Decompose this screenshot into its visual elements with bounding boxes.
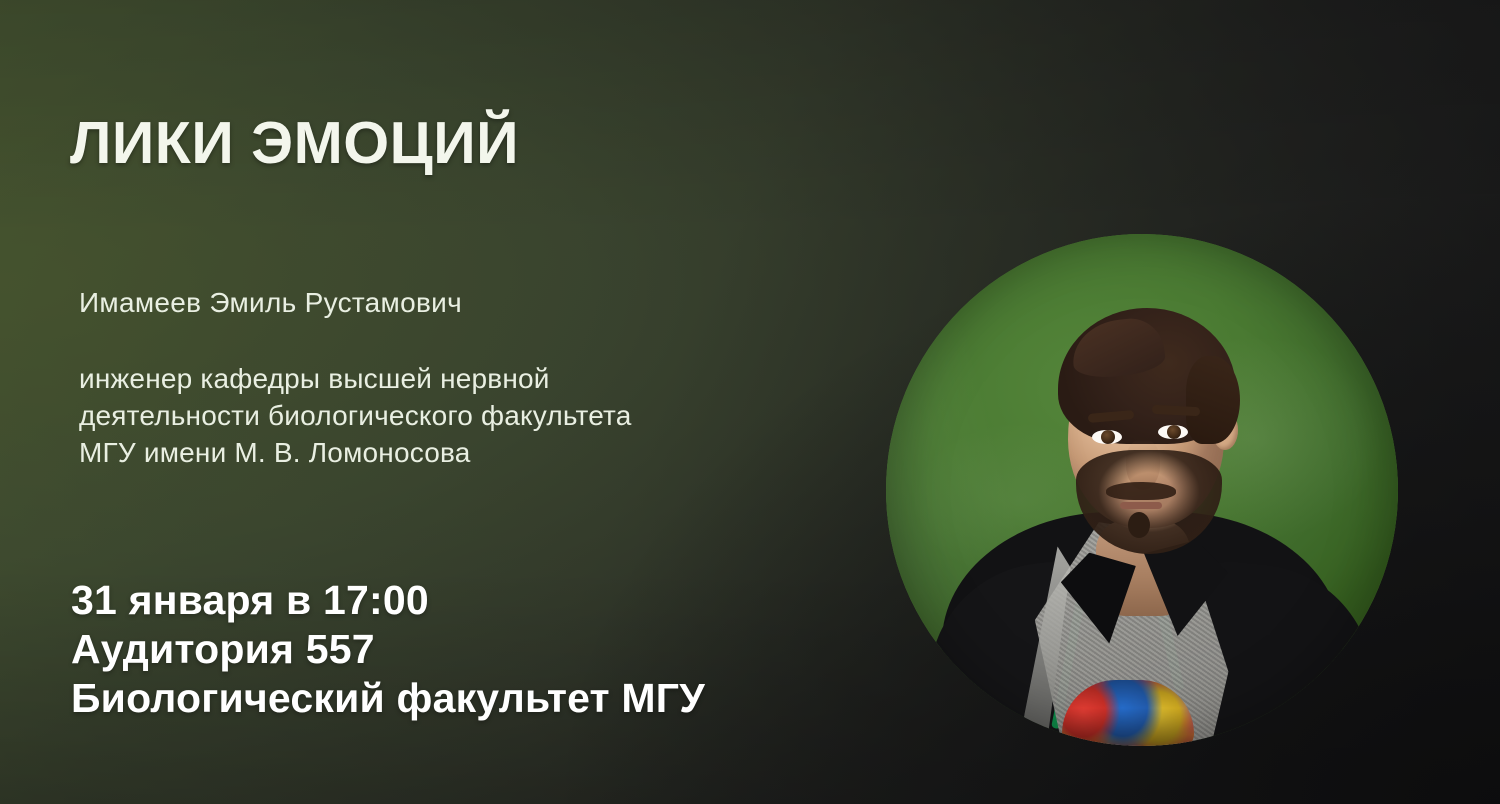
speaker-name: Имамеев Эмиль Рустамович xyxy=(79,286,462,320)
speaker-hair-side xyxy=(1186,356,1240,444)
poster-title: ЛИКИ ЭМОЦИЙ xyxy=(70,114,519,173)
speaker-affiliation: инженер кафедры высшей нервной деятельно… xyxy=(79,360,632,471)
event-datetime: 31 января в 17:00 xyxy=(71,576,705,625)
speaker-portrait xyxy=(886,234,1398,746)
speaker-chin-beard xyxy=(1128,512,1150,538)
iris-left xyxy=(1101,430,1115,444)
affiliation-line-1: инженер кафедры высшей нервной xyxy=(79,360,632,397)
affiliation-line-2: деятельности биологического факультета xyxy=(79,397,632,434)
affiliation-line-3: МГУ имени М. В. Ломоносова xyxy=(79,434,632,471)
iris-right xyxy=(1167,425,1181,439)
event-details: 31 января в 17:00 Аудитория 557 Биологич… xyxy=(71,576,705,723)
event-venue: Биологический факультет МГУ xyxy=(71,674,705,723)
speaker-mouth xyxy=(1120,502,1162,509)
event-poster: ЛИКИ ЭМОЦИЙ Имамеев Эмиль Рустамович инж… xyxy=(0,0,1500,804)
event-room: Аудитория 557 xyxy=(71,625,705,674)
speaker-eye-right xyxy=(1158,425,1188,439)
speaker-mustache xyxy=(1106,482,1176,500)
speaker-eye-left xyxy=(1092,430,1122,444)
